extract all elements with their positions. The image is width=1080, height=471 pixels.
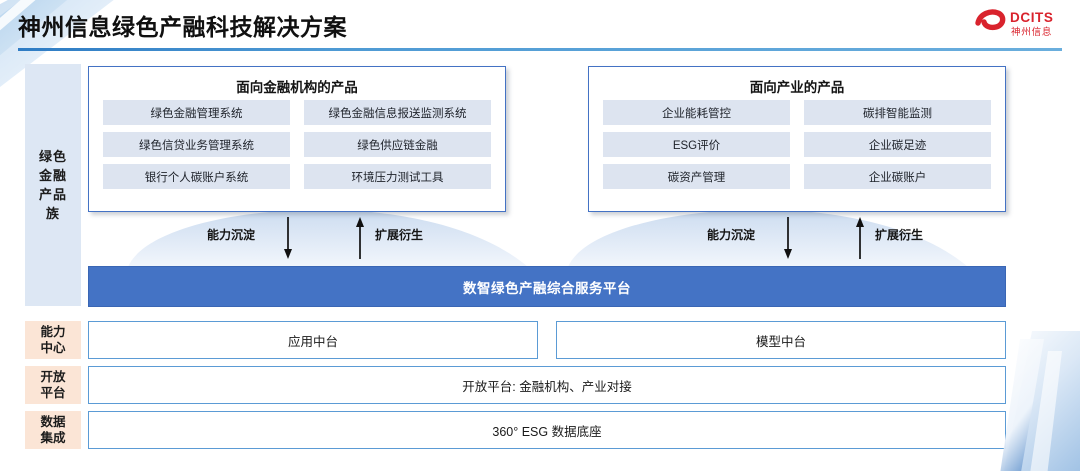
layer-row-application-middle-platform[interactable]: 应用中台	[88, 321, 538, 359]
logo-swoosh-icon	[978, 12, 1003, 27]
layer-row-model-middle-platform[interactable]: 模型中台	[556, 321, 1006, 359]
sidebar-item-open-platform[interactable]: 开放平台	[25, 366, 81, 404]
product-chip-grid: 绿色金融管理系统 绿色金融信息报送监测系统 绿色信贷业务管理系统 绿色供应链金融…	[103, 100, 491, 189]
flow-label-expansion-derivation-left: 扩展衍生	[375, 226, 423, 243]
sidebar-item-capability-center[interactable]: 能力中心	[25, 321, 81, 359]
product-chip-grid: 企业能耗管控 碳排智能监测 ESG评价 企业碳足迹 碳资产管理 企业碳账户	[603, 100, 991, 189]
product-chip[interactable]: 绿色金融管理系统	[103, 100, 290, 125]
layer-row-label: 360° ESG 数据底座	[492, 421, 601, 440]
dome-shape-right	[548, 212, 1008, 267]
product-chip[interactable]: 碳排智能监测	[804, 100, 991, 125]
product-chip[interactable]: 绿色金融信息报送监测系统	[304, 100, 491, 125]
product-group-title: 面向产业的产品	[589, 76, 1005, 96]
product-chip[interactable]: 环境压力测试工具	[304, 164, 491, 189]
dome-shape-left	[88, 212, 548, 267]
page-title: 神州信息绿色产融科技解决方案	[18, 8, 347, 42]
product-chip[interactable]: 绿色供应链金融	[304, 132, 491, 157]
product-group-title: 面向金融机构的产品	[89, 76, 505, 96]
platform-bar[interactable]: 数智绿色产融综合服务平台	[88, 266, 1006, 307]
slide-canvas: 神州信息绿色产融科技解决方案 DCITS 神州信息 绿色金融产品族 能力中心 开…	[0, 0, 1080, 471]
layer-row-label: 应用中台	[288, 331, 338, 350]
product-group-card-financial-institutions: 面向金融机构的产品 绿色金融管理系统 绿色金融信息报送监测系统 绿色信贷业务管理…	[88, 66, 506, 212]
sidebar-item-label: 数据集成	[40, 414, 65, 446]
slide-header: 神州信息绿色产融科技解决方案 DCITS 神州信息	[0, 0, 1080, 52]
dcits-logo: DCITS 神州信息	[974, 6, 1070, 40]
product-group-card-industry: 面向产业的产品 企业能耗管控 碳排智能监测 ESG评价 企业碳足迹 碳资产管理 …	[588, 66, 1006, 212]
product-chip[interactable]: 银行个人碳账户系统	[103, 164, 290, 189]
sidebar-item-label: 开放平台	[40, 369, 65, 401]
arrow-down-left	[280, 216, 296, 260]
sidebar-item-green-finance-product-family[interactable]: 绿色金融产品族	[25, 64, 81, 306]
sidebar-item-label: 绿色金融产品族	[39, 147, 67, 223]
product-chip[interactable]: 绿色信贷业务管理系统	[103, 132, 290, 157]
flow-label-capability-precipitation-right: 能力沉淀	[707, 226, 755, 243]
product-chip[interactable]: ESG评价	[603, 132, 790, 157]
sidebar-item-data-integration[interactable]: 数据集成	[25, 411, 81, 449]
sidebar-item-label: 能力中心	[40, 324, 65, 356]
product-chip[interactable]: 碳资产管理	[603, 164, 790, 189]
svg-text:DCITS: DCITS	[1010, 10, 1054, 25]
svg-text:神州信息: 神州信息	[1011, 26, 1052, 38]
arrow-up-left	[352, 216, 368, 260]
layer-row-data-foundation[interactable]: 360° ESG 数据底座	[88, 411, 1006, 449]
layer-row-label: 开放平台: 金融机构、产业对接	[462, 376, 631, 395]
product-chip[interactable]: 企业碳账户	[804, 164, 991, 189]
arrow-up-right	[852, 216, 868, 260]
layer-row-open-platform[interactable]: 开放平台: 金融机构、产业对接	[88, 366, 1006, 404]
layer-row-label: 模型中台	[756, 331, 806, 350]
flow-label-expansion-derivation-right: 扩展衍生	[875, 226, 923, 243]
flow-label-capability-precipitation-left: 能力沉淀	[207, 226, 255, 243]
arrow-down-right	[780, 216, 796, 260]
platform-bar-label: 数智绿色产融综合服务平台	[463, 277, 631, 297]
product-chip[interactable]: 企业碳足迹	[804, 132, 991, 157]
header-divider	[18, 48, 1062, 51]
product-chip[interactable]: 企业能耗管控	[603, 100, 790, 125]
